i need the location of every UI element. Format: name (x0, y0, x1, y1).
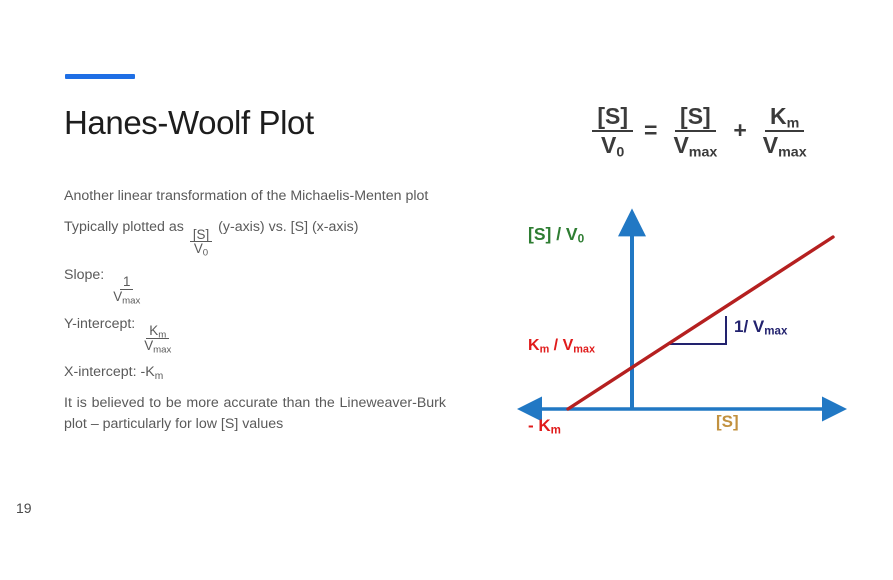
denominator-base: V (194, 241, 203, 256)
page-number: 19 (16, 500, 32, 516)
term1-denominator: Vmax (668, 132, 722, 158)
fraction-denominator: Vmax (141, 339, 174, 353)
term2-denominator: Vmax (758, 132, 812, 158)
bullet-paragraph-2: Typically plotted as [S] V0 (y-axis) vs.… (64, 217, 446, 256)
fraction-numerator: [S] (190, 228, 212, 243)
slope-label: Slope: (64, 267, 104, 283)
chart-x-intercept-label: - Km (528, 416, 561, 436)
title-accent-bar (65, 74, 135, 79)
fraction-denominator: Vmax (110, 290, 143, 304)
hanes-woolf-chart: [S] / V0 Km / Vmax 1/ Vmax - Km [S] (500, 198, 880, 463)
fraction-s-over-v0: [S] V0 (190, 228, 212, 256)
body-content: Another linear transformation of the Mic… (64, 186, 446, 445)
slope-triangle (670, 316, 726, 344)
chart-y-axis-label: [S] / V0 (528, 224, 584, 245)
slide-canvas: Hanes-Woolf Plot Another linear transfor… (0, 0, 893, 580)
term2-denominator-base: V (763, 132, 778, 158)
lhs-denominator: V0 (596, 132, 629, 158)
equals-sign: = (644, 117, 657, 144)
fraction-numerator: 1 (120, 275, 133, 290)
term1-denominator-subscript: max (689, 144, 718, 160)
hanes-woolf-data-line (568, 237, 833, 409)
y-intercept-label: Y-intercept: (64, 316, 135, 332)
term2-numerator: Km (765, 104, 804, 132)
page-title: Hanes-Woolf Plot (64, 104, 314, 142)
term1-numerator: [S] (675, 104, 716, 132)
term2-numerator-subscript: m (787, 116, 800, 132)
chart-x-axis-label: [S] (716, 412, 739, 432)
term2-denominator-subscript: max (778, 144, 807, 160)
lhs-denominator-base: V (601, 132, 616, 158)
paragraph-2-prefix: Typically plotted as (64, 219, 184, 235)
fraction-km-over-vmax: Km Vmax (141, 324, 174, 352)
bullet-paragraph-3: It is believed to be more accurate than … (64, 393, 446, 433)
hanes-woolf-equation: [S] V0 = [S] Vmax + Km Vmax (552, 104, 852, 158)
equation-term1-fraction: [S] Vmax (668, 104, 722, 158)
lhs-numerator: [S] (592, 104, 633, 132)
fraction-one-over-vmax: 1 Vmax (110, 275, 143, 303)
chart-y-intercept-label: Km / Vmax (528, 337, 595, 355)
denominator-base: V (113, 289, 122, 304)
bullet-paragraph-1: Another linear transformation of the Mic… (64, 186, 446, 206)
lhs-denominator-subscript: 0 (616, 144, 624, 160)
term2-numerator-base: K (770, 103, 787, 129)
denominator-subscript: max (153, 344, 171, 355)
term1-denominator-base: V (673, 132, 688, 158)
equation-term2-fraction: Km Vmax (758, 104, 812, 158)
numerator-base: K (149, 323, 158, 338)
bullet-x-intercept: X-intercept: -Km (64, 362, 446, 382)
x-intercept-subscript: m (155, 371, 164, 382)
bullet-y-intercept: Y-intercept: Km Vmax (64, 314, 446, 353)
bullet-slope: Slope: 1 Vmax (64, 265, 446, 304)
paragraph-2-suffix: (y-axis) vs. [S] (x-axis) (218, 219, 358, 235)
plus-sign: + (733, 117, 746, 144)
fraction-numerator: Km (146, 324, 169, 339)
x-intercept-label: X-intercept: -K (64, 364, 155, 380)
denominator-subscript: 0 (203, 248, 208, 259)
chart-slope-label: 1/ Vmax (734, 317, 787, 337)
denominator-subscript: max (122, 296, 140, 307)
fraction-denominator: V0 (191, 242, 211, 256)
equation-lhs-fraction: [S] V0 (592, 104, 633, 158)
denominator-base: V (144, 338, 153, 353)
